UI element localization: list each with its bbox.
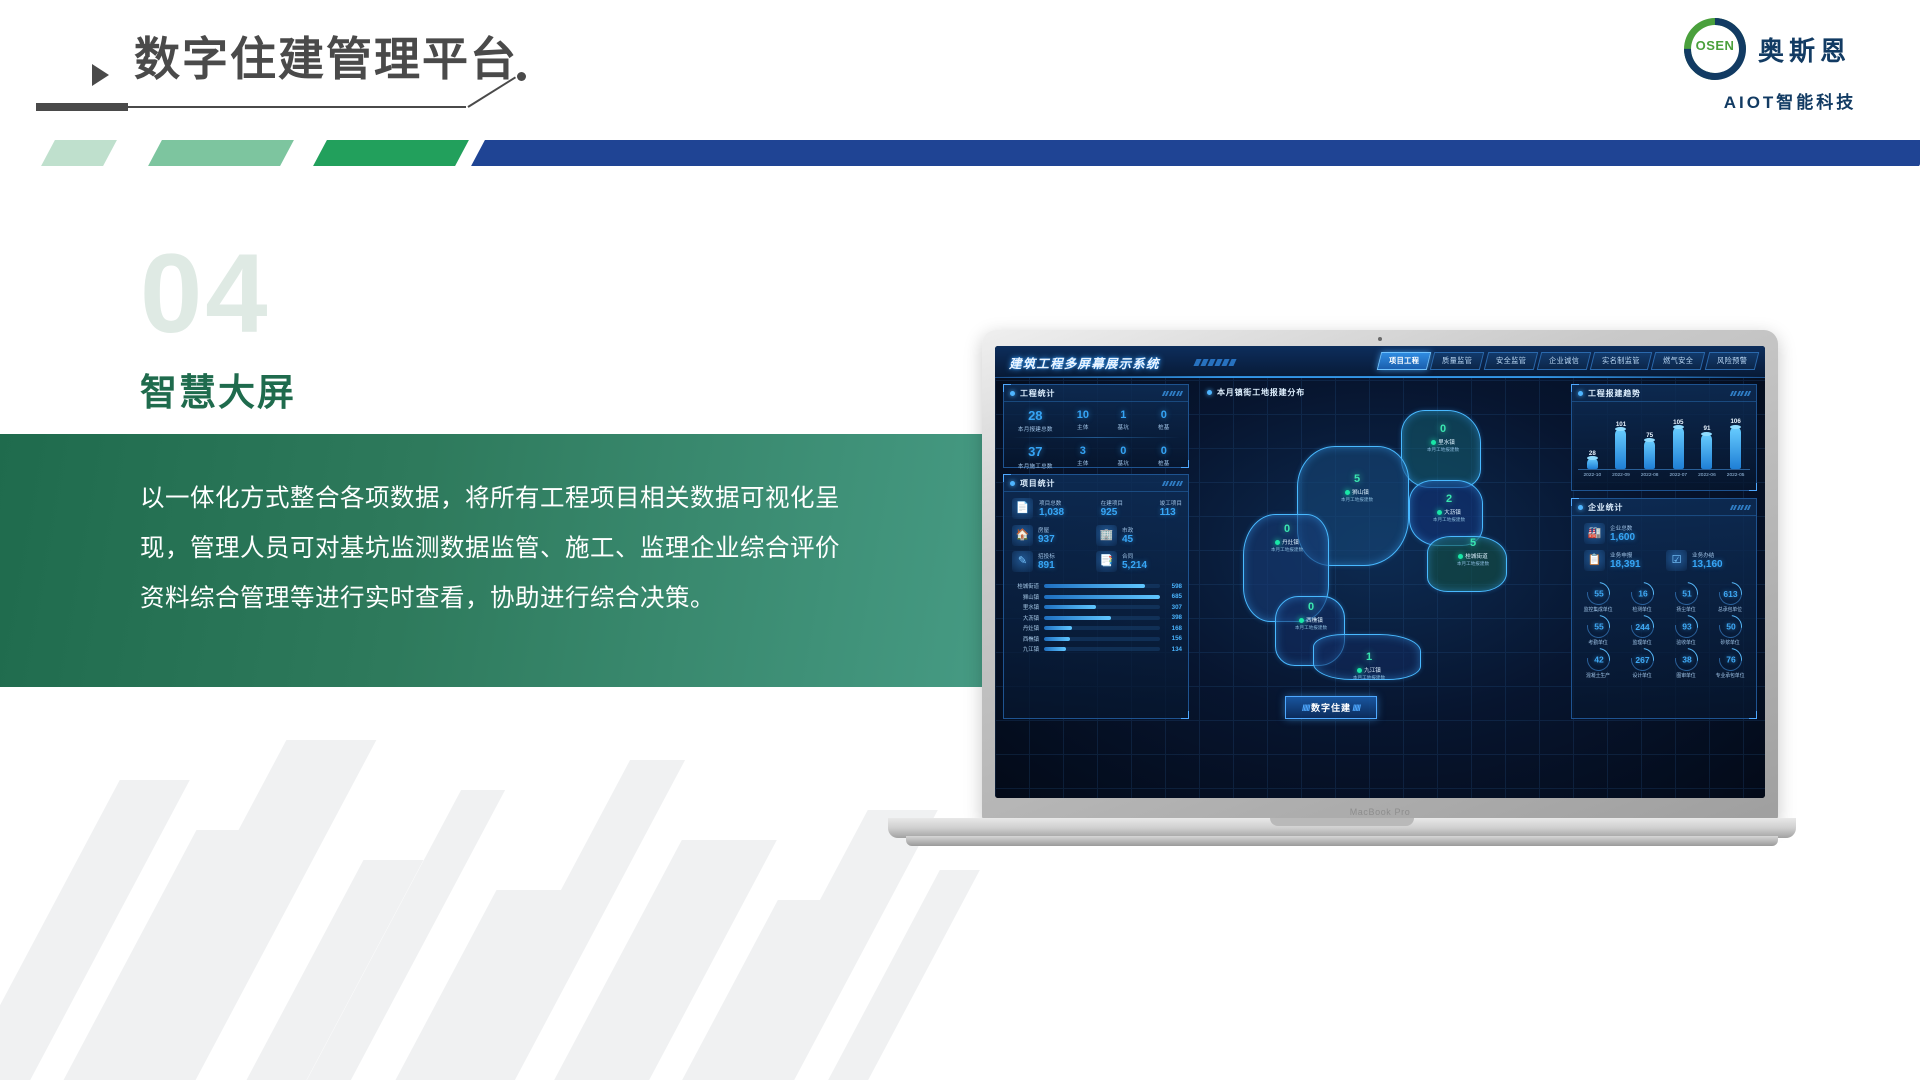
project-items-row-2: ✎ 招投标 891 📑 合同 5,214 [1004, 546, 1188, 572]
laptop-base-foot [906, 836, 1778, 846]
badge-item[interactable]: 93 验收单位 [1664, 615, 1708, 646]
panel-project-stats: 项目统计 📄 项目总数 1,038 在建项目 925 [1003, 474, 1189, 719]
chart-bar [1644, 440, 1655, 469]
stat-label: 房屋 [1038, 526, 1055, 534]
stat-label: 项目总数 [1039, 499, 1064, 507]
stat-cell: 28 本月报建总数 [1008, 409, 1063, 433]
ranking-track [1044, 637, 1160, 641]
chart-bar [1615, 429, 1626, 469]
marker-value: 5 [1322, 474, 1392, 485]
header-slash-decor [1163, 481, 1183, 486]
township-ranking-list: 桂城街道 598 狮山镇 685 里水镇 307 [1004, 578, 1188, 659]
dashboard-topbar: 建筑工程多屏幕展示系统 项目工程 质量监管 安全监管 企业诚信 实名制监管 燃气… [995, 346, 1765, 378]
ranking-row: 里水镇 307 [1010, 602, 1182, 613]
chart-bar-group: 101 [1612, 406, 1631, 469]
logo-brand-cn: 奥斯恩 [1758, 31, 1851, 68]
bullet-dot-icon [1207, 390, 1212, 395]
badge-value: 16 [1637, 589, 1646, 599]
engineering-stats-row-1: 28 本月报建总数 10 主体 1 基坑 0 桩 [1004, 402, 1188, 437]
stat-value: 45 [1122, 534, 1133, 545]
chart-bar-group: 106 [1726, 406, 1745, 469]
panel-trend-chart: 工程报建趋势 28 101 [1571, 384, 1757, 491]
badge-item[interactable]: 55 监控集成单位 [1576, 582, 1620, 613]
map-title-bar: 本月镇街工地报建分布 [1201, 384, 1541, 406]
ranking-track [1044, 584, 1160, 588]
ranking-fill [1044, 584, 1145, 588]
ranking-track [1044, 647, 1160, 651]
ranking-value: 156 [1160, 635, 1182, 642]
map-marker-dali[interactable]: 2 大沥镇 本月工地报建数 [1414, 494, 1484, 523]
chart-bar [1730, 427, 1741, 469]
stat-label: 本月施工总数 [1008, 462, 1063, 470]
tab-realname-supervision[interactable]: 实名制监管 [1590, 352, 1652, 370]
marker-sublabel: 本月工地报建数 [1252, 547, 1322, 553]
panel-engineering-stats: 工程统计 28 本月报建总数 10 主体 1 [1003, 384, 1189, 468]
stat-label: 主体 [1063, 423, 1103, 431]
device-label: MacBook Pro [982, 807, 1778, 817]
badge-label: 设计单位 [1620, 672, 1664, 679]
badge-value: 50 [1725, 622, 1734, 632]
stat-value: 37 [1008, 445, 1063, 459]
enterprise-item-total: 🏭 企业总数 1,600 [1584, 523, 1746, 544]
enterprise-item-declared: 📋 业务申报 18,391 [1584, 550, 1666, 571]
marker-sublabel: 本月工地报建数 [1414, 517, 1484, 523]
ranking-label: 大沥镇 [1010, 614, 1044, 622]
ranking-value: 307 [1160, 604, 1182, 611]
stat-label: 桩基 [1144, 423, 1184, 431]
stat-value: 5,214 [1122, 560, 1147, 571]
title-tick-decor [466, 72, 526, 114]
stat-value: 13,160 [1692, 559, 1723, 570]
logo-tagline: AIOT智能科技 [1686, 88, 1894, 113]
axis-tick-label: 2022-06 [1698, 473, 1717, 478]
marker-value: 1 [1334, 652, 1404, 663]
stat-value: 891 [1038, 560, 1055, 571]
page-header: 数字住建管理平台 OSEN 奥斯恩 AIOT智能科技 [0, 0, 1920, 170]
marker-name: 九江镇 [1364, 668, 1381, 674]
badge-ring: 244 [1626, 610, 1658, 642]
marker-name-row: 桂城街道 [1438, 552, 1508, 560]
chart-bar-group: 75 [1640, 406, 1659, 469]
badge-item[interactable]: 38 图审单位 [1664, 648, 1708, 679]
panel-title: 企业统计 [1588, 503, 1623, 512]
ranking-label: 里水镇 [1010, 603, 1044, 611]
stat-cell: 3 主体 [1063, 445, 1103, 467]
badge-ring: 55 [1582, 610, 1614, 642]
axis-tick-label: 2022-05 [1726, 473, 1745, 478]
factory-icon: 🏭 [1584, 523, 1605, 544]
badge-item[interactable]: 244 监理单位 [1620, 615, 1664, 646]
panel-header: 项目统计 [1004, 475, 1188, 492]
badge-item[interactable]: 613 总承包单位 [1708, 582, 1752, 613]
logo-mark-text: OSEN [1684, 38, 1746, 53]
badge-label: 总承包单位 [1708, 606, 1752, 613]
project-items-row-1: 🏠 房屋 937 🏢 市政 45 [1004, 521, 1188, 546]
tab-safety-supervision[interactable]: 安全监管 [1483, 352, 1538, 370]
ranking-value: 134 [1160, 646, 1182, 653]
project-item-bidding: ✎ 招投标 891 [1012, 551, 1096, 572]
chevron-divider-band [0, 140, 1920, 166]
badge-label: 扬尘单位 [1664, 606, 1708, 613]
marker-dot-icon [1345, 490, 1350, 495]
badge-value: 244 [1635, 622, 1649, 632]
ranking-label: 丹灶镇 [1010, 624, 1044, 632]
stat-cell: 0 基坑 [1103, 445, 1143, 467]
badge-value: 93 [1681, 622, 1690, 632]
chevron-4 [471, 140, 1920, 166]
badge-label: 砂浆单位 [1708, 639, 1752, 646]
badge-label: 验收单位 [1664, 639, 1708, 646]
marker-name: 西樵镇 [1306, 618, 1323, 624]
marker-dot-icon [1275, 540, 1280, 545]
stat-label: 竣工项目 [1160, 499, 1182, 507]
stat-cell: 0 桩基 [1144, 409, 1184, 431]
stat-label: 业务申报 [1610, 551, 1641, 559]
ranking-value: 398 [1160, 614, 1182, 621]
panel-enterprise-stats: 企业统计 🏭 企业总数 1,600 [1571, 498, 1757, 719]
triangle-bullet-icon [92, 64, 109, 86]
dashboard-system-title: 建筑工程多屏幕展示系统 [1009, 353, 1160, 372]
stat-value: 925 [1101, 507, 1123, 518]
button-slash-left-icon: ///// [1302, 703, 1311, 713]
badge-value: 55 [1593, 622, 1602, 632]
badge-value: 51 [1681, 589, 1690, 599]
bullet-dot-icon [1010, 481, 1015, 486]
stat-value: 3 [1063, 445, 1103, 457]
ranking-value: 598 [1160, 583, 1182, 590]
stat-label: 基坑 [1103, 423, 1143, 431]
ranking-label: 桂城街道 [1010, 582, 1044, 590]
badge-ring: 613 [1714, 577, 1746, 609]
chart-bar [1701, 434, 1712, 469]
badge-label: 图审单位 [1664, 672, 1708, 679]
ranking-row: 西樵镇 156 [1010, 634, 1182, 645]
chart-plot-area: 28 101 75 1 [1578, 406, 1750, 470]
stat-label: 本月报建总数 [1008, 425, 1063, 433]
badge-item[interactable]: 42 混凝土生产 [1576, 648, 1620, 679]
stat-value: 0 [1144, 409, 1184, 421]
stat-value: 10 [1063, 409, 1103, 421]
chart-bar-group: 105 [1669, 406, 1688, 469]
stat-value: 0 [1103, 445, 1143, 457]
marker-sublabel: 本月工地报建数 [1334, 675, 1404, 681]
badge-item[interactable]: 50 砂浆单位 [1708, 615, 1752, 646]
marker-name: 桂城街道 [1465, 554, 1487, 560]
panel-title: 工程报建趋势 [1588, 389, 1641, 398]
stat-cell: 1 基坑 [1103, 409, 1143, 431]
marker-name: 狮山镇 [1352, 490, 1369, 496]
bid-icon: ✎ [1012, 551, 1033, 572]
bullet-dot-icon [1578, 391, 1583, 396]
township-distribution-map[interactable]: 0 里水镇 本月工地报建数 5 狮山镇 本月工地报建数 2 大沥镇 本月工地报建… [1201, 406, 1551, 706]
ranking-fill [1044, 605, 1096, 609]
badge-value: 42 [1593, 655, 1602, 665]
enterprise-badge-grid: 55 监控集成单位 16 检测单位 51 扬尘单位 613 [1572, 579, 1756, 684]
topbar-slash-decor [1195, 359, 1235, 366]
header-slash-decor [1731, 505, 1751, 510]
header-slash-decor [1731, 391, 1751, 396]
contract-icon: 📑 [1096, 551, 1117, 572]
document-chart-icon: 📄 [1012, 498, 1033, 519]
project-item-contract: 📑 合同 5,214 [1096, 551, 1180, 572]
ranking-fill [1044, 595, 1160, 599]
marker-dot-icon [1437, 510, 1442, 515]
map-marker-guicheng[interactable]: 5 桂城街道 本月工地报建数 [1438, 538, 1508, 567]
map-marker-jiujiang[interactable]: 1 九江镇 本月工地报建数 [1334, 652, 1404, 681]
badge-ring: 50 [1714, 610, 1746, 642]
stat-label: 企业总数 [1610, 524, 1635, 532]
title-underline [36, 102, 466, 112]
marker-name-row: 大沥镇 [1414, 508, 1484, 516]
map-marker-xiqiao[interactable]: 0 西樵镇 本月工地报建数 [1276, 602, 1346, 631]
badge-item[interactable]: 76 专业承包单位 [1708, 648, 1752, 679]
ranking-fill [1044, 647, 1066, 651]
checklist-icon: ☑ [1666, 550, 1687, 571]
title-underline-thin [126, 106, 466, 108]
title-underline-thick [36, 103, 128, 111]
project-total-item: 竣工项目 113 [1160, 499, 1182, 518]
header-slash-decor [1163, 391, 1183, 396]
laptop-screen: 建筑工程多屏幕展示系统 项目工程 质量监管 安全监管 企业诚信 实名制监管 燃气… [995, 346, 1765, 798]
marker-sublabel: 本月工地报建数 [1276, 625, 1346, 631]
page-title-wrap: 数字住建管理平台 [92, 36, 518, 82]
dashboard-nav-tabs[interactable]: 项目工程 质量监管 安全监管 企业诚信 实名制监管 燃气安全 风险预警 [1379, 352, 1757, 370]
laptop-mockup: 建筑工程多屏幕展示系统 项目工程 质量监管 安全监管 企业诚信 实名制监管 燃气… [888, 330, 1796, 860]
map-marker-danzao[interactable]: 0 丹灶镇 本月工地报建数 [1252, 524, 1322, 553]
badge-value: 38 [1681, 655, 1690, 665]
ranking-row: 九江镇 134 [1010, 644, 1182, 655]
section-title: 智慧大屏 [140, 362, 296, 416]
ranking-row: 丹灶镇 168 [1010, 623, 1182, 634]
chart-bar [1587, 458, 1598, 469]
panel-header: 工程统计 [1004, 385, 1188, 402]
ranking-track [1044, 605, 1160, 609]
marker-sublabel: 本月工地报建数 [1438, 561, 1508, 567]
panel-title: 工程统计 [1020, 389, 1055, 398]
marker-value: 5 [1438, 538, 1508, 549]
panel-title: 项目统计 [1020, 479, 1055, 488]
map-marker-shishan[interactable]: 5 狮山镇 本月工地报建数 [1322, 474, 1392, 503]
badge-item[interactable]: 51 扬尘单位 [1664, 582, 1708, 613]
ranking-fill [1044, 637, 1070, 641]
enterprise-item-completed: ☑ 业务办结 13,160 [1666, 550, 1748, 571]
stat-value: 28 [1008, 409, 1063, 423]
stat-label: 主体 [1063, 459, 1103, 467]
stat-value: 18,391 [1610, 559, 1641, 570]
ranking-fill [1044, 626, 1072, 630]
stat-value: 1 [1103, 409, 1143, 421]
trend-bar-chart: 28 101 75 1 [1572, 402, 1756, 490]
bullet-dot-icon [1578, 505, 1583, 510]
ranking-row: 桂城街道 598 [1010, 581, 1182, 592]
decor-dot-icon [517, 72, 526, 81]
stat-cell: 0 桩基 [1144, 445, 1184, 467]
marker-value: 0 [1276, 602, 1346, 613]
marker-name-row: 西樵镇 [1276, 616, 1346, 624]
badge-ring: 267 [1626, 643, 1658, 675]
marker-name-row: 九江镇 [1334, 666, 1404, 674]
badge-item[interactable]: 267 设计单位 [1620, 648, 1664, 679]
badge-value: 76 [1725, 655, 1734, 665]
chart-bar [1673, 427, 1684, 469]
tab-gas-safety[interactable]: 燃气安全 [1651, 352, 1706, 370]
badge-value: 55 [1593, 589, 1602, 599]
badge-item[interactable]: 55 考勤单位 [1576, 615, 1620, 646]
badge-ring: 51 [1670, 577, 1702, 609]
section-body-text: 以一体化方式整合各项数据，将所有工程项目相关数据可视化呈现，管理人员可对基坑监测… [140, 474, 850, 624]
project-totals-row: 📄 项目总数 1,038 在建项目 925 竣工项目 [1004, 492, 1188, 521]
axis-tick-label: 2022-09 [1612, 473, 1631, 478]
ranking-label: 西樵镇 [1010, 635, 1044, 643]
chart-bar-group: 28 [1583, 406, 1602, 469]
topbar-glow-line [995, 376, 1765, 378]
webcam-icon [1378, 337, 1382, 341]
badge-label: 混凝土生产 [1576, 672, 1620, 679]
marker-dot-icon [1357, 668, 1362, 673]
marker-name-row: 里水镇 [1408, 438, 1478, 446]
marker-sublabel: 本月工地报建数 [1322, 497, 1392, 503]
badge-value: 267 [1635, 655, 1649, 665]
button-slash-right-icon: ///// [1351, 703, 1360, 713]
panel-header: 企业统计 [1572, 499, 1756, 516]
map-title: 本月镇街工地报建分布 [1217, 388, 1305, 397]
ranking-track [1044, 626, 1160, 630]
ranking-row: 狮山镇 685 [1010, 592, 1182, 603]
marker-sublabel: 本月工地报建数 [1408, 447, 1478, 453]
badge-label: 监控集成单位 [1576, 606, 1620, 613]
badge-ring: 42 [1582, 643, 1614, 675]
marker-value: 0 [1252, 524, 1322, 535]
marker-value: 0 [1408, 424, 1478, 435]
marker-dot-icon [1458, 554, 1463, 559]
digital-housing-button[interactable]: ///// 数字住建 ///// [1285, 696, 1377, 719]
ranking-value: 168 [1160, 625, 1182, 632]
badge-ring: 16 [1626, 577, 1658, 609]
marker-name: 大沥镇 [1444, 510, 1461, 516]
button-label: 数字住建 [1311, 703, 1351, 713]
axis-tick-label: 2022-10 [1583, 473, 1602, 478]
marker-value: 2 [1414, 494, 1484, 505]
badge-ring: 55 [1582, 577, 1614, 609]
stat-cell: 37 本月施工总数 [1008, 445, 1063, 469]
project-totals-values: 项目总数 1,038 在建项目 925 竣工项目 113 [1039, 499, 1182, 518]
marker-name: 丹灶镇 [1282, 540, 1299, 546]
logo-primary-row: OSEN 奥斯恩 [1684, 18, 1851, 80]
stat-value: 0 [1144, 445, 1184, 457]
axis-tick-label: 2022-08 [1640, 473, 1659, 478]
stat-value: 113 [1160, 507, 1182, 518]
ranking-row: 大沥镇 398 [1010, 613, 1182, 624]
badge-label: 检测单位 [1620, 606, 1664, 613]
section-number: 04 [140, 238, 271, 350]
chevron-2 [148, 140, 294, 166]
stat-value: 1,600 [1610, 532, 1635, 543]
bullet-dot-icon [1010, 391, 1015, 396]
project-item-municipal: 🏢 市政 45 [1096, 525, 1180, 546]
axis-tick-label: 2022-07 [1669, 473, 1688, 478]
stat-value: 937 [1038, 534, 1055, 545]
panel-header: 工程报建趋势 [1572, 385, 1756, 402]
page-title: 数字住建管理平台 [134, 36, 518, 82]
badge-ring: 76 [1714, 643, 1746, 675]
chevron-1 [41, 140, 117, 166]
stat-label: 市政 [1122, 526, 1133, 534]
badge-value: 613 [1723, 589, 1737, 599]
ranking-track [1044, 595, 1160, 599]
project-total-item: 在建项目 925 [1101, 499, 1123, 518]
marker-dot-icon [1431, 440, 1436, 445]
stat-label: 桩基 [1144, 459, 1184, 467]
project-item-housing: 🏠 房屋 937 [1012, 525, 1096, 546]
stat-label: 合同 [1122, 552, 1147, 560]
ranking-label: 九江镇 [1010, 645, 1044, 653]
ranking-fill [1044, 616, 1111, 620]
dashboard: 建筑工程多屏幕展示系统 项目工程 质量监管 安全监管 企业诚信 实名制监管 燃气… [995, 346, 1765, 798]
badge-ring: 93 [1670, 610, 1702, 642]
house-icon: 🏠 [1012, 525, 1033, 546]
enterprise-items-row: 📋 业务申报 18,391 ☑ 业务办结 13,160 [1572, 544, 1756, 571]
tab-project-engineering[interactable]: 项目工程 [1377, 352, 1432, 370]
stat-label: 业务办结 [1692, 551, 1723, 559]
decor-diagonal-line [467, 76, 516, 107]
chevron-3 [313, 140, 469, 166]
marker-name-row: 丹灶镇 [1252, 538, 1322, 546]
osen-circle-icon: OSEN [1684, 18, 1746, 80]
map-panel-header: 本月镇街工地报建分布 [1201, 384, 1541, 401]
ranking-label: 狮山镇 [1010, 593, 1044, 601]
ranking-value: 685 [1160, 593, 1182, 600]
map-marker-lishui[interactable]: 0 里水镇 本月工地报建数 [1408, 424, 1478, 453]
tab-risk-warning[interactable]: 风险预警 [1704, 352, 1759, 370]
report-icon: 📋 [1584, 550, 1605, 571]
badge-label: 专业承包单位 [1708, 672, 1752, 679]
ranking-track [1044, 616, 1160, 620]
badge-item[interactable]: 16 检测单位 [1620, 582, 1664, 613]
stat-label: 在建项目 [1101, 499, 1123, 507]
badge-ring: 38 [1670, 643, 1702, 675]
laptop-base [888, 818, 1796, 838]
stat-label: 招投标 [1038, 552, 1055, 560]
project-total-item: 项目总数 1,038 [1039, 499, 1064, 518]
tab-enterprise-credit[interactable]: 企业诚信 [1537, 352, 1592, 370]
building-icon: 🏢 [1096, 525, 1117, 546]
stat-value: 1,038 [1039, 507, 1064, 518]
stat-cell: 10 主体 [1063, 409, 1103, 431]
tab-quality-supervision[interactable]: 质量监管 [1430, 352, 1485, 370]
brand-logo: OSEN 奥斯恩 AIOT智能科技 [1684, 18, 1894, 118]
engineering-stats-row-2: 37 本月施工总数 3 主体 0 基坑 0 桩基 [1004, 438, 1188, 473]
laptop-lid: 建筑工程多屏幕展示系统 项目工程 质量监管 安全监管 企业诚信 实名制监管 燃气… [982, 330, 1778, 822]
enterprise-total-row: 🏭 企业总数 1,600 [1572, 516, 1756, 544]
chart-bar-group: 91 [1698, 406, 1717, 469]
marker-name: 里水镇 [1438, 440, 1455, 446]
badge-label: 考勤单位 [1576, 639, 1620, 646]
marker-name-row: 狮山镇 [1322, 488, 1392, 496]
marker-dot-icon [1299, 618, 1304, 623]
stat-label: 基坑 [1103, 459, 1143, 467]
chart-x-axis: 2022-10 2022-09 2022-08 2022-07 2022-06 … [1578, 473, 1750, 478]
badge-label: 监理单位 [1620, 639, 1664, 646]
